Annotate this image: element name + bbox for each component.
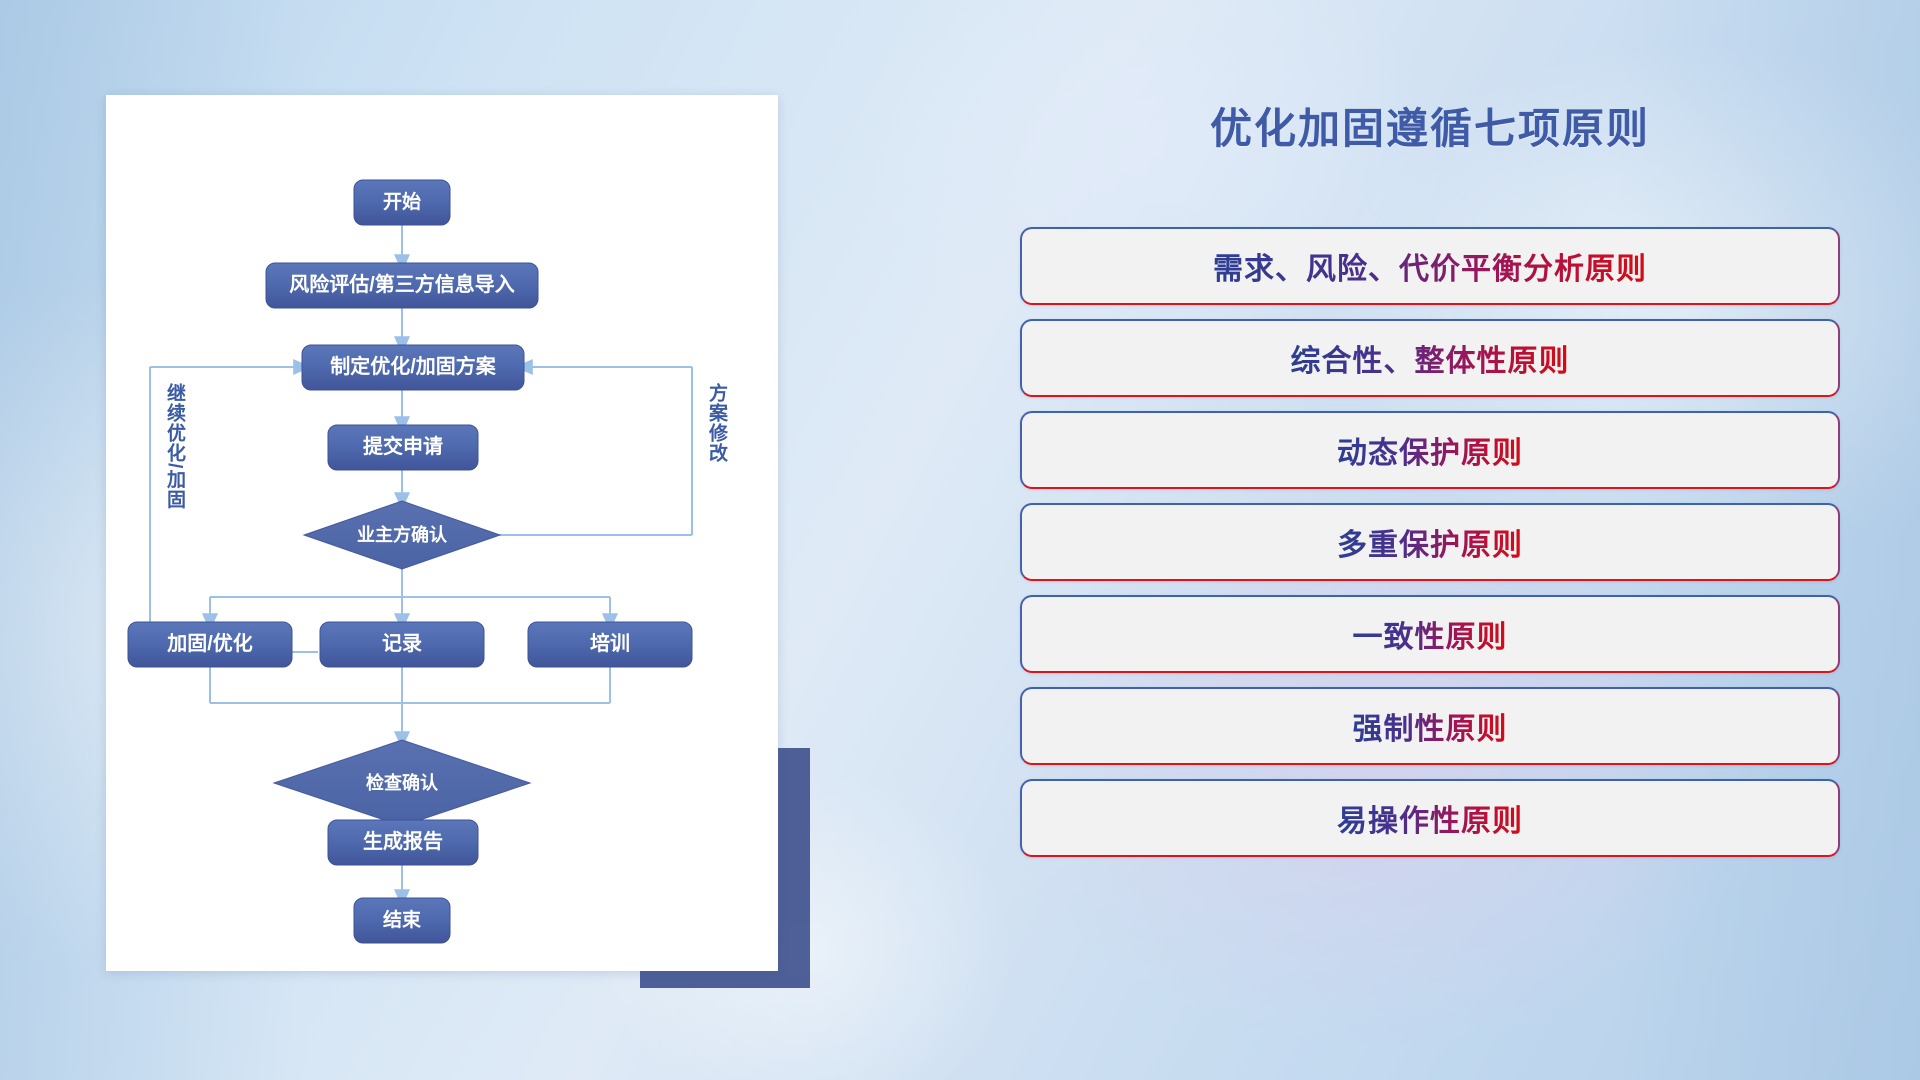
principle-card-1[interactable]: 需求、风险、代价平衡分析原则 <box>1020 227 1840 305</box>
flow-edge-label-plan-revision: 方案修改 <box>706 383 726 463</box>
principles-panel: 优化加固遵循七项原则 需求、风险、代价平衡分析原则 综合性、整体性原则 动态保护… <box>1020 95 1840 985</box>
flowchart-card: 开始 风险评估/第三方信息导入 制定优化/加固方案 提交申请 业主方确认 加固/… <box>106 95 778 971</box>
principle-card-4[interactable]: 多重保护原则 <box>1020 503 1840 581</box>
flow-edge-label-continue-optimize: 继续优化/加固 <box>164 383 184 509</box>
principle-card-label: 易操作性原则 <box>1337 796 1523 840</box>
principle-card-2[interactable]: 综合性、整体性原则 <box>1020 319 1840 397</box>
principle-card-label: 需求、风险、代价平衡分析原则 <box>1213 244 1647 288</box>
panel-title: 优化加固遵循七项原则 <box>1020 95 1840 156</box>
principle-card-5[interactable]: 一致性原则 <box>1020 595 1840 673</box>
principle-card-label: 强制性原则 <box>1353 704 1508 748</box>
principle-card-label: 综合性、整体性原则 <box>1291 336 1570 380</box>
principles-card-list: 需求、风险、代价平衡分析原则 综合性、整体性原则 动态保护原则 多重保护原则 一… <box>1020 227 1840 871</box>
principle-card-label: 一致性原则 <box>1353 612 1508 656</box>
principle-card-6[interactable]: 强制性原则 <box>1020 687 1840 765</box>
principle-card-label: 多重保护原则 <box>1337 520 1523 564</box>
flowchart-diagram <box>106 95 778 971</box>
principle-card-7[interactable]: 易操作性原则 <box>1020 779 1840 857</box>
principle-card-3[interactable]: 动态保护原则 <box>1020 411 1840 489</box>
principle-card-label: 动态保护原则 <box>1337 428 1523 472</box>
